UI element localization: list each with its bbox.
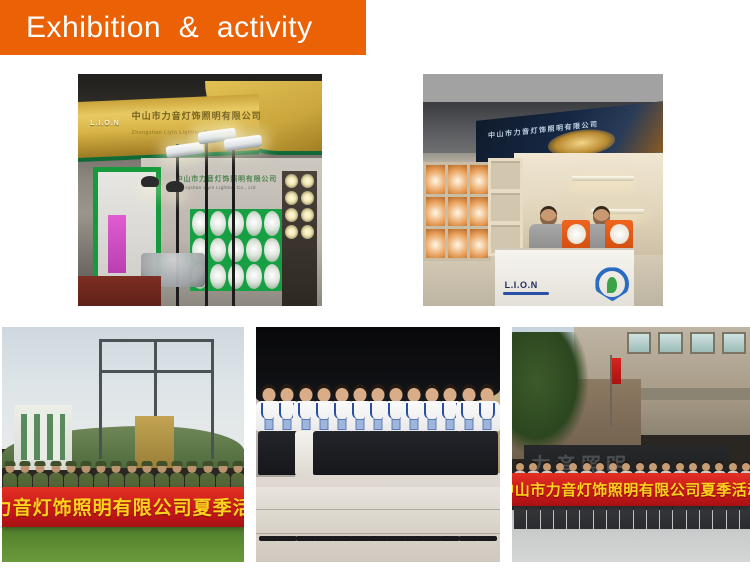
photo-booth-workers[interactable]: 中山市力音灯饰照明有限公司 (423, 74, 663, 306)
window-pane (722, 332, 747, 354)
person-shoes (296, 536, 316, 541)
person-shoes (314, 536, 334, 541)
wall-light-strip (572, 176, 634, 181)
person-head (353, 388, 366, 402)
downlight-product-icon (246, 264, 262, 289)
led-bulb-icon (285, 191, 298, 205)
led-bulb-icon (285, 174, 298, 188)
downlight-product-icon (228, 211, 244, 236)
id-badge-icon (464, 419, 473, 430)
lamp-pole (232, 148, 235, 306)
window-pane (690, 332, 715, 354)
id-badge-icon (355, 419, 364, 430)
window-pane (627, 332, 652, 354)
downlight-product-icon (228, 264, 244, 289)
led-display-column (282, 171, 317, 306)
person-head (263, 388, 276, 402)
person-head (444, 388, 457, 402)
led-bulb-icon (285, 225, 298, 239)
staff-group-row (261, 388, 495, 543)
person-shoes (386, 536, 406, 541)
person-head (281, 388, 294, 402)
booth-sign-chinese: 中山市力音灯饰照明有限公司 (132, 109, 262, 122)
person-shoes (368, 536, 388, 541)
lanyard-icon (479, 403, 495, 419)
lamp-product-icon (470, 197, 489, 226)
person-head (299, 388, 312, 402)
lamp-product-icon (470, 229, 489, 258)
booth-wall-english: Zhongshan Liyin Lighting Co., Ltd (176, 185, 256, 190)
id-badge-icon (301, 419, 310, 430)
company-emblem-icon (595, 267, 629, 301)
lamp-product-icon (448, 229, 467, 258)
led-bulb-icon (301, 174, 314, 188)
person-shoes (332, 536, 352, 541)
id-badge-icon (319, 419, 328, 430)
orange-product-panel (562, 220, 590, 250)
downlight-product-icon (264, 264, 280, 289)
staff-person (478, 388, 495, 543)
downlight-product-icon (246, 211, 262, 236)
photo-outdoor-team-building[interactable]: 中山市力音灯饰照明有限公司夏季活动 (2, 327, 244, 562)
person-shoes (277, 536, 297, 541)
lamp-product-icon (470, 165, 489, 194)
person-head (426, 388, 439, 402)
person-shoes (422, 536, 442, 541)
lamp-product-icon (426, 229, 445, 258)
photo-factory-gate-group[interactable]: 力音照明 中山市力音灯饰照明有限公司夏季活动 (512, 327, 750, 562)
display-niche (491, 193, 520, 221)
downlight-product-icon (264, 238, 280, 263)
booth-carpet (78, 276, 161, 306)
person-shoes (259, 536, 279, 541)
person-head (317, 388, 330, 402)
red-banner: 中山市力音灯饰照明有限公司夏季活动 (2, 487, 244, 527)
led-bulb-icon (301, 208, 314, 222)
photo-staff-group[interactable] (256, 327, 500, 562)
id-badge-icon (283, 419, 292, 430)
pendant-lamp-icon (166, 181, 184, 192)
banner-text: 中山市力音灯饰照明有限公司夏季活动 (512, 479, 750, 500)
downlight-product-icon (264, 211, 280, 236)
downlight-product-icon (210, 238, 226, 263)
person-shoes (477, 536, 497, 541)
tree-foliage (512, 332, 588, 454)
gallery-row-bottom: 中山市力音灯饰照明有限公司夏季活动 (0, 327, 750, 562)
id-badge-icon (373, 419, 382, 430)
led-bulb-icon (301, 191, 314, 205)
window-pane (658, 332, 683, 354)
downlight-product-icon (210, 211, 226, 236)
id-badge-icon (482, 419, 491, 430)
lamp-product-icon (426, 197, 445, 226)
downlight-product-icon (246, 238, 262, 263)
downlight-product-icon (210, 264, 226, 289)
person-head (335, 388, 348, 402)
person-head (408, 388, 421, 402)
person-shoes (440, 536, 460, 541)
person-shoes (350, 536, 370, 541)
red-banner: 中山市力音灯饰照明有限公司夏季活动 (512, 473, 750, 506)
person-head (371, 388, 384, 402)
brand-logo-lion: L.I.O.N (90, 120, 120, 127)
product-shelf-grid (423, 162, 491, 261)
led-bulb-icon (285, 208, 298, 222)
letterbox-band (423, 74, 663, 102)
orange-product-panel (605, 220, 633, 250)
person-trousers (476, 431, 498, 475)
id-badge-icon (392, 419, 401, 430)
counter-brand-logo: L.I.O.N (505, 280, 538, 290)
page-title: Exhibition & activity (0, 11, 313, 45)
red-flag-icon (612, 358, 621, 384)
gallery-row-top: L.I.O.N 中山市力音灯饰照明有限公司 Zhongshan Liyin Li… (0, 74, 750, 306)
photo-booth-green[interactable]: L.I.O.N 中山市力音灯饰照明有限公司 Zhongshan Liyin Li… (78, 74, 322, 306)
display-niche (491, 161, 520, 189)
lamp-product-icon (426, 165, 445, 194)
led-bulb-icon (301, 225, 314, 239)
banner-text: 中山市力音灯饰照明有限公司夏季活动 (2, 493, 244, 520)
pendant-lamp-icon (141, 176, 159, 187)
id-badge-icon (428, 419, 437, 430)
id-badge-icon (265, 419, 274, 430)
id-badge-icon (410, 419, 419, 430)
lamp-product-icon (448, 197, 467, 226)
person-head (480, 388, 493, 402)
id-badge-icon (446, 419, 455, 430)
booth-wall-chinese: 中山市力音灯饰照明有限公司 (176, 174, 277, 184)
person-head (462, 388, 475, 402)
id-badge-icon (337, 419, 346, 430)
section-header-banner: Exhibition & activity (0, 0, 366, 55)
person-head (390, 388, 403, 402)
person-shoes (404, 536, 424, 541)
lamp-product-icon (448, 165, 467, 194)
building-windows (627, 332, 747, 354)
downlight-product-icon (228, 238, 244, 263)
display-niche-grid (488, 158, 523, 257)
lamp-pole (205, 134, 208, 306)
person-shoes (459, 536, 479, 541)
